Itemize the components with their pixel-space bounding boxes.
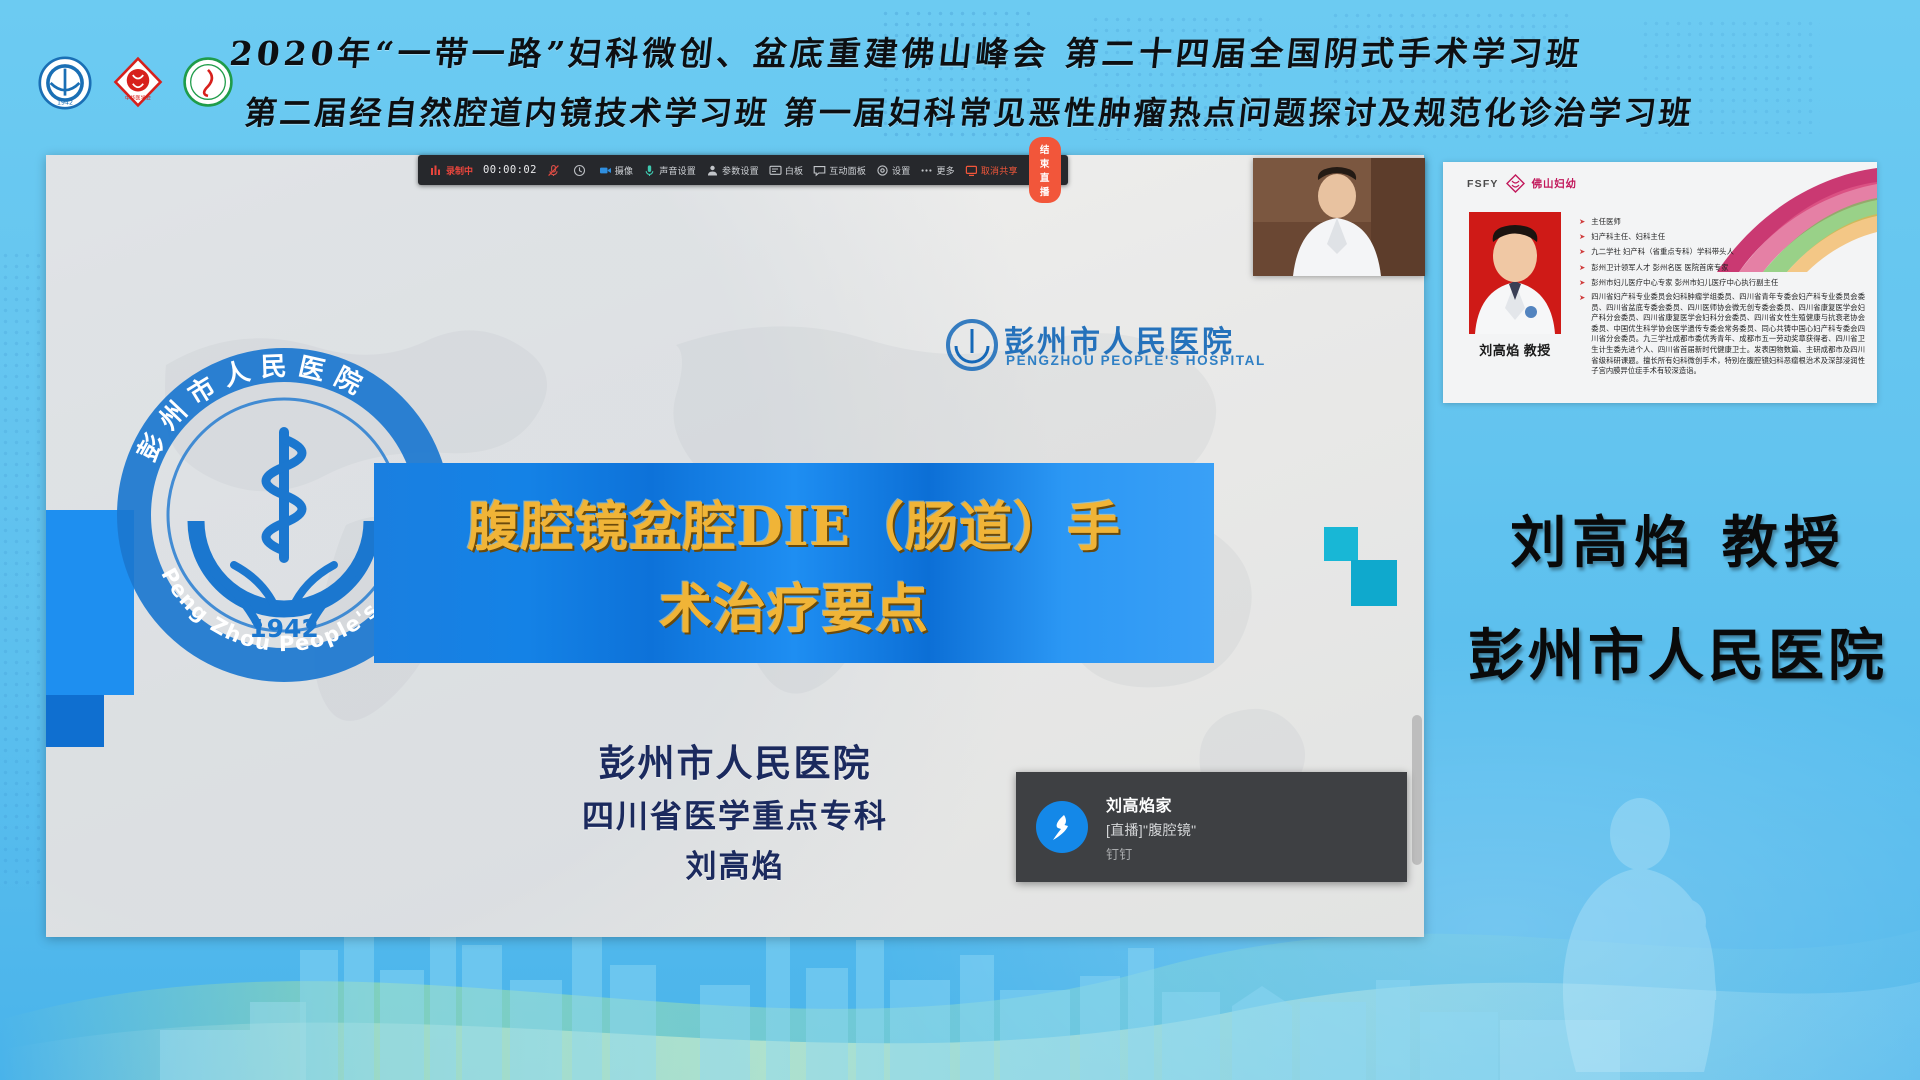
hospital-emblem-logo: 1942 (38, 56, 92, 110)
presenter-video-tile[interactable] (1253, 158, 1425, 276)
bio-bullet-text: 主任医师 (1591, 216, 1621, 227)
toolbar-camera-button[interactable]: 摄像 (594, 157, 638, 183)
toast-title: 刘高焰家 (1106, 792, 1196, 816)
toolbar-params-button[interactable]: 参数设置 (701, 157, 764, 183)
recording-label: 录制中 (446, 164, 473, 177)
dingtalk-glyph (1047, 812, 1077, 842)
speaker-portrait (1469, 212, 1561, 334)
chevron-right-icon: ➤ (1579, 231, 1585, 242)
bio-bullet: ➤ 九二学社 妇产科（省重点专科）学科带头人 (1579, 246, 1865, 257)
timer-value: 00:00:02 (483, 164, 537, 176)
bio-bullet-text: 妇产科主任、妇科主任 (1591, 231, 1665, 242)
slide-hospital-name-en: PENGZHOU PEOPLE'S HOSPITAL (1006, 353, 1266, 368)
toolbar-clock-button[interactable] (568, 157, 594, 183)
slide-title-line-1: 腹腔镜盆腔DIE（肠道）手 (374, 485, 1214, 561)
toolbar-settings-label: 设置 (892, 164, 910, 177)
bio-bullet-text: 九二学社 妇产科（省重点专科）学科带头人 (1591, 246, 1734, 257)
mic-icon (643, 164, 656, 177)
toolbar-settings-button[interactable]: 设置 (871, 157, 915, 183)
svg-text:1942: 1942 (57, 100, 73, 107)
bio-bullet: ➤ 妇产科主任、妇科主任 (1579, 231, 1865, 242)
bio-bullet: ➤ 彭州市妇儿医疗中心专家 彭州市妇儿医疗中心执行副主任 (1579, 277, 1865, 288)
bio-bullet-paragraph: ➤ 四川省妇产科专业委员会妇科肿瘤学组委员、四川省青年专委会妇产科专业委员会委员… (1579, 292, 1865, 377)
red-cross-logo: 中华医学会 (112, 56, 164, 108)
toolbar-audio-settings-button[interactable]: 声音设置 (638, 157, 701, 183)
toolbar-mic-mute-button[interactable] (542, 157, 568, 183)
bio-bullet-text: 彭州卫计领军人才 彭州名医 医院首席专家 (1591, 262, 1728, 273)
slide-title-line-2: 术治疗要点 (374, 567, 1214, 643)
decorative-cyan-square-2 (1351, 560, 1397, 606)
fsfy-logo-icon (1506, 174, 1525, 193)
dingtalk-notification-toast[interactable]: 刘高焰家 [直播]"腹腔镜" 钉钉 (1016, 772, 1407, 882)
chevron-right-icon: ➤ (1579, 262, 1585, 273)
decorative-cyan-square (1324, 527, 1358, 561)
recording-indicator: 录制中 (425, 157, 478, 183)
event-header: 1942 中华医学会 2020年“一带一路”妇科微创、盆底重建佛山峰会 第二十四… (0, 0, 1920, 148)
svg-text:中华医学会: 中华医学会 (125, 93, 151, 101)
presenter-video-frame (1253, 158, 1425, 276)
toast-app-name: 钉钉 (1106, 844, 1196, 863)
toolbar-more-button[interactable]: 更多 (915, 157, 959, 183)
slide-title-banner: 腹腔镜盆腔DIE（肠道）手 术治疗要点 (374, 463, 1214, 663)
speaker-bio-card[interactable]: FSFY 佛山妇幼 刘高焰 教授 ➤ 主任医师 ➤ 妇产科主任、妇科主任 ➤ (1443, 162, 1877, 403)
header-title-line-1: 2020年“一带一路”妇科微创、盆底重建佛山峰会 第二十四届全国阴式手术学习班 (227, 27, 1912, 75)
speaker-portrait-image (1469, 212, 1561, 334)
microphone-mute-icon (547, 164, 560, 177)
chat-icon (813, 164, 826, 177)
meeting-toolbar[interactable]: 录制中 00:00:02 摄像 声音设置 (418, 155, 1068, 185)
audio-levels-icon (430, 164, 443, 177)
toolbar-whiteboard-label: 白板 (785, 164, 803, 177)
toolbar-whiteboard-button[interactable]: 白板 (764, 157, 808, 183)
header-title-line-2: 第二届经自然腔道内镜技术学习班 第一届妇科常见恶性肿瘤热点问题探讨及规范化诊治学… (243, 88, 1920, 134)
shared-screen-scrollbar[interactable] (1412, 715, 1422, 865)
toast-message: [直播]"腹腔镜" (1106, 820, 1196, 840)
clock-icon (573, 164, 586, 177)
bio-bullet: ➤ 彭州卫计领军人才 彭州名医 医院首席专家 (1579, 262, 1865, 273)
bio-paragraph-text: 四川省妇产科专业委员会妇科肿瘤学组委员、四川省青年专委会妇产科专业委员会委员、四… (1591, 292, 1865, 377)
mother-child-statue-silhouette (1490, 782, 1790, 1072)
toolbar-params-label: 参数设置 (722, 164, 759, 177)
chevron-right-icon: ➤ (1579, 277, 1585, 288)
toolbar-chat-panel-label: 互动面板 (829, 164, 866, 177)
cancel-share-label: 取消共享 (981, 164, 1018, 177)
slide-hospital-mark-icon (946, 319, 998, 371)
cancel-share-button[interactable]: 取消共享 (960, 157, 1023, 183)
toolbar-audio-settings-label: 声音设置 (659, 164, 696, 177)
toolbar-camera-label: 摄像 (615, 164, 633, 177)
bio-bullet-text: 彭州市妇儿医疗中心专家 彭州市妇儿医疗中心执行副主任 (1591, 277, 1778, 288)
green-medical-logo (182, 56, 234, 108)
speaker-nameplate: 刘高焰 教授 彭州市人民医院 (1443, 498, 1913, 692)
whiteboard-icon (769, 164, 782, 177)
people-icon (706, 164, 719, 177)
speaker-name: 刘高焰 教授 (1443, 498, 1913, 579)
toast-body: 刘高焰家 [直播]"腹腔镜" 钉钉 (1106, 792, 1196, 863)
bio-credentials-list: ➤ 主任医师 ➤ 妇产科主任、妇科主任 ➤ 九二学社 妇产科（省重点专科）学科带… (1579, 216, 1865, 381)
chevron-right-icon: ➤ (1579, 216, 1585, 227)
gear-icon (876, 164, 889, 177)
toolbar-chat-panel-button[interactable]: 互动面板 (808, 157, 871, 183)
camera-icon (599, 164, 612, 177)
bio-bullet: ➤ 主任医师 (1579, 216, 1865, 227)
bio-brand: FSFY 佛山妇幼 (1467, 174, 1577, 193)
slide-hospital-logo: 彭州市人民医院 PENGZHOU PEOPLE'S HOSPITAL (946, 317, 1216, 377)
speaker-affiliation: 彭州市人民医院 (1443, 611, 1913, 692)
bio-speaker-name: 刘高焰 教授 (1469, 340, 1561, 359)
emblem-year: 1942 (249, 614, 319, 643)
bio-brand-cn: 佛山妇幼 (1532, 176, 1577, 191)
bio-brand-en: FSFY (1467, 178, 1499, 190)
meeting-timer: 00:00:02 (478, 157, 542, 183)
chevron-right-icon: ➤ (1579, 246, 1585, 257)
toolbar-more-label: 更多 (936, 164, 954, 177)
dingtalk-icon (1036, 801, 1088, 853)
end-live-button[interactable]: 结束直播 (1029, 137, 1061, 203)
stop-share-icon (965, 164, 978, 177)
chevron-right-icon: ➤ (1579, 292, 1585, 377)
more-icon (920, 164, 933, 177)
